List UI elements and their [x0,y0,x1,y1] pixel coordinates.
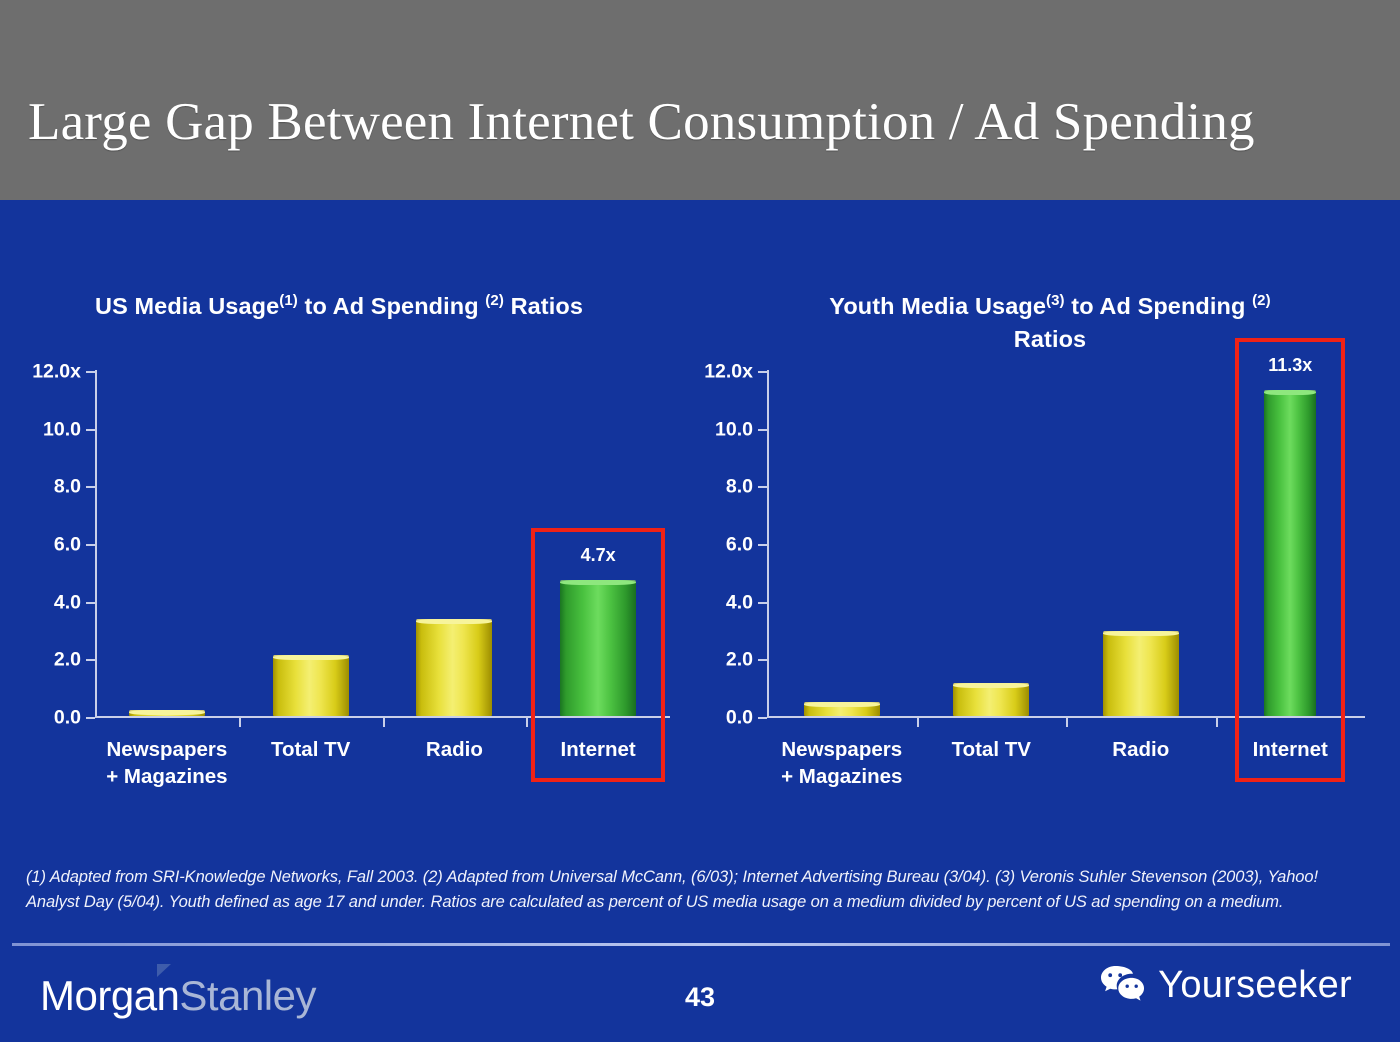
bar-newspapers-magazines[interactable] [804,702,880,716]
bar-radio[interactable] [1103,631,1179,716]
brand-watermark: Yourseeker [1100,964,1352,1007]
y-axis-tick-label: 2.0 [726,649,753,672]
plot-area-us-media: 4.7x Newspapers+ MagazinesTotal TVRadioI… [95,370,670,718]
chart-title-superscript-2: (2) [1252,292,1271,309]
y-axis-tick [758,717,767,719]
bar-internet-highlight[interactable] [1264,390,1316,716]
chart-title-superscript-1: (3) [1046,292,1065,309]
x-axis-label-total-tv: Total TV [239,736,383,763]
x-axis-tick [526,718,528,727]
bar-slot [383,370,527,716]
x-axis-tick [383,718,385,727]
y-axis-tick [758,602,767,604]
bar-slot [767,370,917,716]
bar-top-cap [1264,390,1316,395]
y-axis-tick-label: 4.0 [54,591,81,614]
y-axis-tick-label: 8.0 [54,476,81,499]
bar-top-cap [416,619,492,624]
bar-top-cap [273,655,349,660]
x-axis-label-radio: Radio [1066,736,1216,763]
chart-title-us-media: US Media Usage(1) to Ad Spending (2) Rat… [0,290,700,323]
bar-total-tv[interactable] [953,683,1029,716]
x-axis-label-newspapers-magazines: Newspapers+ Magazines [95,736,239,790]
x-axis-tick [239,718,241,727]
wechat-icon [1100,964,1146,1007]
bar-group-youth-media: 11.3x [767,370,1365,716]
y-axis-tick [86,371,95,373]
y-axis-tick [86,602,95,604]
y-axis-tick-label: 0.0 [726,707,753,730]
y-axis-tick-label: 10.0 [43,418,81,441]
chart-title-end: Ratios [504,293,583,319]
y-axis-tick [86,486,95,488]
chart-title-mid: to Ad Spending [1065,293,1252,319]
y-axis-tick-label: 10.0 [715,418,753,441]
footnote-text: (1) Adapted from SRI-Knowledge Networks,… [26,865,1374,915]
y-axis-tick-label: 4.0 [726,591,753,614]
y-axis-tick-label: 6.0 [54,534,81,557]
page-title: Large Gap Between Internet Consumption /… [28,92,1255,152]
brand-name: Yourseeker [1158,964,1352,1007]
y-axis-tick-label: 8.0 [726,476,753,499]
y-axis-tick [758,544,767,546]
chart-title-main: US Media Usage [95,293,279,319]
y-axis-tick-label: 2.0 [54,649,81,672]
chart-title-superscript-2: (2) [485,292,504,309]
chart-title-mid: to Ad Spending [298,293,485,319]
chart-title-main: Youth Media Usage [829,293,1046,319]
x-axis-label-newspapers-magazines: Newspapers+ Magazines [767,736,917,790]
bar-newspapers-magazines[interactable] [129,710,205,716]
x-axis-label-radio: Radio [383,736,527,763]
y-axis-tick [86,717,95,719]
bar-data-label: 11.3x [1268,355,1312,376]
bar-group-us-media: 4.7x [95,370,670,716]
bar-radio[interactable] [416,619,492,716]
footnote-divider [12,943,1390,946]
bar-data-label: 4.7x [581,545,616,566]
x-axis-tick [1066,718,1068,727]
y-axis-tick-label: 12.0x [704,361,753,384]
y-axis-tick [86,544,95,546]
x-axis-tick [1216,718,1218,727]
bar-slot [95,370,239,716]
slide-header: Large Gap Between Internet Consumption /… [0,0,1400,200]
y-axis-tick [758,371,767,373]
chart-panel-us-media: US Media Usage(1) to Ad Spending (2) Rat… [0,200,700,820]
chart-title-youth-media: Youth Media Usage(3) to Ad Spending (2)R… [700,290,1400,357]
y-axis-tick [758,486,767,488]
y-axis-tick [758,659,767,661]
bar-internet-highlight[interactable] [560,580,636,716]
chart-panel-youth-media: Youth Media Usage(3) to Ad Spending (2)R… [700,200,1400,820]
y-axis-tick [86,659,95,661]
bar-top-cap [953,683,1029,688]
bar-top-cap [129,710,205,715]
bar-slot [1066,370,1216,716]
chart-title-superscript-1: (1) [279,292,298,309]
bar-slot [917,370,1067,716]
y-axis-tick [758,429,767,431]
bar-top-cap [804,702,880,707]
bar-slot [239,370,383,716]
bar-top-cap [1103,631,1179,636]
bar-slot: 11.3x [1216,370,1366,716]
chart-title-end: Ratios [1014,326,1086,352]
bar-slot: 4.7x [526,370,670,716]
x-axis-label-internet: Internet [1216,736,1366,763]
plot-area-youth-media: 11.3x Newspapers+ MagazinesTotal TVRadio… [767,370,1365,718]
morgan-stanley-triangle-icon [157,964,171,977]
slide-footer: MorganStanley 43 Your [0,948,1400,1042]
bar-top-cap [560,580,636,585]
y-axis-tick-label: 6.0 [726,534,753,557]
slide-body: US Media Usage(1) to Ad Spending (2) Rat… [0,200,1400,1042]
x-axis-label-total-tv: Total TV [917,736,1067,763]
x-axis-tick [917,718,919,727]
y-axis-tick [86,429,95,431]
bar-total-tv[interactable] [273,655,349,716]
y-axis-tick-label: 0.0 [54,707,81,730]
x-axis-label-internet: Internet [526,736,670,763]
y-axis-tick-label: 12.0x [32,361,81,384]
